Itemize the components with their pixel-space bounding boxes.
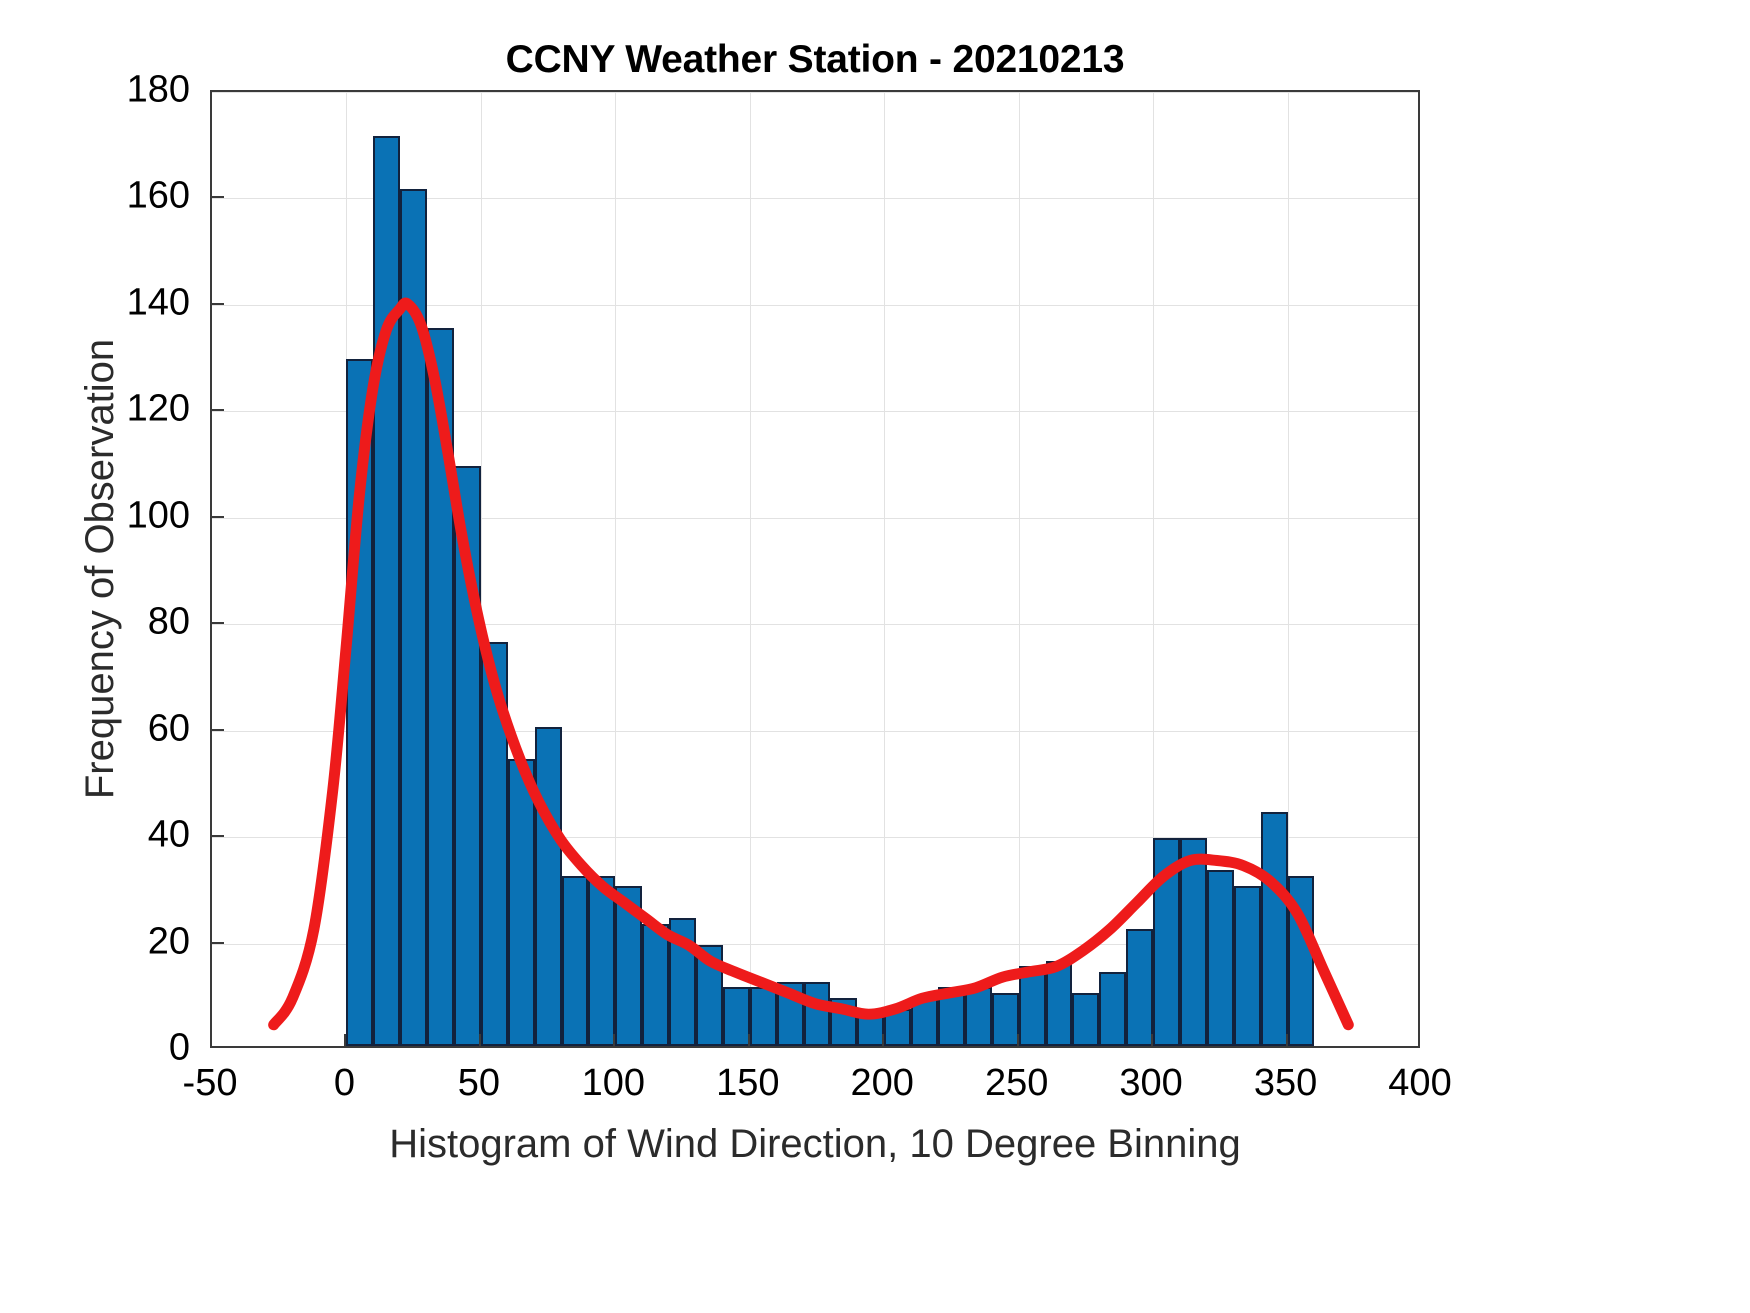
y-axis-tick-label: 120 xyxy=(127,388,190,431)
density-curve-svg xyxy=(212,92,1418,1046)
x-axis-tick-label: 400 xyxy=(1388,1062,1451,1105)
y-axis-tick-label: 140 xyxy=(127,281,190,324)
y-axis-title: Frequency of Observation xyxy=(78,90,123,1048)
y-axis-tick-mark xyxy=(210,409,224,411)
y-axis-tick-label: 80 xyxy=(148,601,190,644)
kde-line xyxy=(274,303,1349,1025)
y-axis-tick-label: 180 xyxy=(127,69,190,112)
x-axis-tick-label: 350 xyxy=(1254,1062,1317,1105)
y-axis-tick-mark xyxy=(210,729,224,731)
y-axis-tick-label: 40 xyxy=(148,814,190,857)
density-curve xyxy=(212,92,1418,1046)
x-axis-title: Histogram of Wind Direction, 10 Degree B… xyxy=(210,1122,1420,1167)
y-axis-tick-mark xyxy=(210,622,224,624)
x-axis-tick-labels: -50050100150200250300350400 xyxy=(0,1062,1750,1122)
y-axis-tick-mark xyxy=(210,196,224,198)
figure-canvas: CCNY Weather Station - 20210213 02040608… xyxy=(0,0,1750,1313)
x-axis-tick-mark xyxy=(1286,1034,1288,1048)
x-axis-tick-label: 0 xyxy=(334,1062,355,1105)
y-axis-tick-mark xyxy=(210,516,224,518)
y-axis-tick-mark xyxy=(210,303,224,305)
plot-area xyxy=(210,90,1420,1048)
x-axis-tick-label: 200 xyxy=(851,1062,914,1105)
x-axis-tick-label: 100 xyxy=(582,1062,645,1105)
y-axis-tick-label: 100 xyxy=(127,494,190,537)
x-axis-tick-label: 300 xyxy=(1119,1062,1182,1105)
x-axis-tick-mark xyxy=(344,1034,346,1048)
y-axis-tick-label: 60 xyxy=(148,707,190,750)
x-axis-tick-label: 150 xyxy=(716,1062,779,1105)
y-axis-tick-mark xyxy=(210,942,224,944)
x-axis-tick-label: 250 xyxy=(985,1062,1048,1105)
x-axis-tick-mark xyxy=(748,1034,750,1048)
x-axis-tick-label: -50 xyxy=(183,1062,238,1105)
y-axis-tick-label: 160 xyxy=(127,175,190,218)
y-axis-tick-label: 20 xyxy=(148,920,190,963)
x-axis-tick-mark xyxy=(613,1034,615,1048)
y-axis-tick-mark xyxy=(210,835,224,837)
x-axis-tick-mark xyxy=(1151,1034,1153,1048)
x-axis-tick-mark xyxy=(1017,1034,1019,1048)
x-axis-tick-label: 50 xyxy=(458,1062,500,1105)
x-axis-tick-mark xyxy=(882,1034,884,1048)
x-axis-tick-mark xyxy=(479,1034,481,1048)
chart-title: CCNY Weather Station - 20210213 xyxy=(210,38,1420,82)
